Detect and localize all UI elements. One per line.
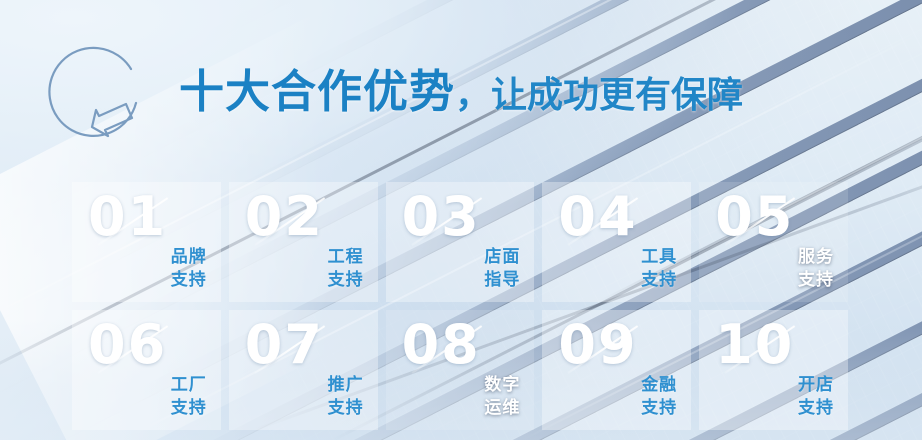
- card-label-line2: 支持: [798, 397, 834, 420]
- card-label-line2: 支持: [328, 397, 364, 420]
- title-wrap: 十大合作优势 ，让成功更有保障: [179, 69, 743, 114]
- card-label-line1: 金融: [641, 374, 677, 397]
- card-label: 开店支持: [798, 374, 834, 420]
- advantage-card-10[interactable]: 10开店支持: [699, 310, 848, 430]
- card-label: 品牌支持: [171, 246, 207, 292]
- advantage-card-grid: 01品牌支持02工程支持03店面指导04工具支持05服务支持06工厂支持07推广…: [72, 182, 848, 430]
- card-number: 03: [402, 186, 481, 248]
- advantage-card-08[interactable]: 08数字运维: [386, 310, 535, 430]
- card-label-line1: 工厂: [171, 374, 207, 397]
- card-number: 02: [245, 186, 324, 248]
- card-label-line2: 支持: [328, 269, 364, 292]
- card-number: 08: [402, 314, 481, 376]
- advantage-card-07[interactable]: 07推广支持: [229, 310, 378, 430]
- advantage-card-06[interactable]: 06工厂支持: [72, 310, 221, 430]
- card-label-line2: 支持: [171, 269, 207, 292]
- card-label: 推广支持: [328, 374, 364, 420]
- card-label-line1: 品牌: [171, 246, 207, 269]
- page-subtitle: ，让成功更有保障: [455, 78, 743, 114]
- card-label: 工厂支持: [171, 374, 207, 420]
- card-label: 数字运维: [484, 374, 520, 420]
- card-number: 04: [558, 186, 637, 248]
- advantage-card-09[interactable]: 09金融支持: [542, 310, 691, 430]
- card-label-line1: 数字: [484, 374, 520, 397]
- card-label: 工具支持: [641, 246, 677, 292]
- advantage-card-01[interactable]: 01品牌支持: [72, 182, 221, 302]
- card-number: 07: [245, 314, 324, 376]
- card-number: 09: [558, 314, 637, 376]
- advantage-card-03[interactable]: 03店面指导: [386, 182, 535, 302]
- card-label-line2: 运维: [484, 397, 520, 420]
- card-label-line1: 开店: [798, 374, 834, 397]
- card-label: 店面指导: [484, 246, 520, 292]
- card-label-line1: 工程: [328, 246, 364, 269]
- advantage-card-02[interactable]: 02工程支持: [229, 182, 378, 302]
- card-number: 10: [715, 314, 794, 376]
- card-number: 06: [88, 314, 167, 376]
- card-label-line1: 服务: [798, 246, 834, 269]
- circular-cycle-arrow-icon: [35, 31, 163, 159]
- card-label-line1: 店面: [484, 246, 520, 269]
- card-label: 工程支持: [328, 246, 364, 292]
- card-label-line2: 支持: [171, 397, 207, 420]
- card-label-line2: 支持: [641, 269, 677, 292]
- card-label-line2: 支持: [641, 397, 677, 420]
- card-label-line1: 推广: [328, 374, 364, 397]
- card-number: 05: [715, 186, 794, 248]
- page-title: 十大合作优势: [179, 69, 455, 114]
- banner-header: 十大合作优势 ，让成功更有保障: [0, 26, 922, 156]
- card-number: 01: [88, 186, 167, 248]
- card-label-line1: 工具: [641, 246, 677, 269]
- card-label-line2: 指导: [484, 269, 520, 292]
- card-label: 服务支持: [798, 246, 834, 292]
- advantage-card-05[interactable]: 05服务支持: [699, 182, 848, 302]
- card-label-line2: 支持: [798, 269, 834, 292]
- card-label: 金融支持: [641, 374, 677, 420]
- advantage-card-04[interactable]: 04工具支持: [542, 182, 691, 302]
- promo-banner: 十大合作优势 ，让成功更有保障 01品牌支持02工程支持03店面指导04工具支持…: [0, 0, 922, 440]
